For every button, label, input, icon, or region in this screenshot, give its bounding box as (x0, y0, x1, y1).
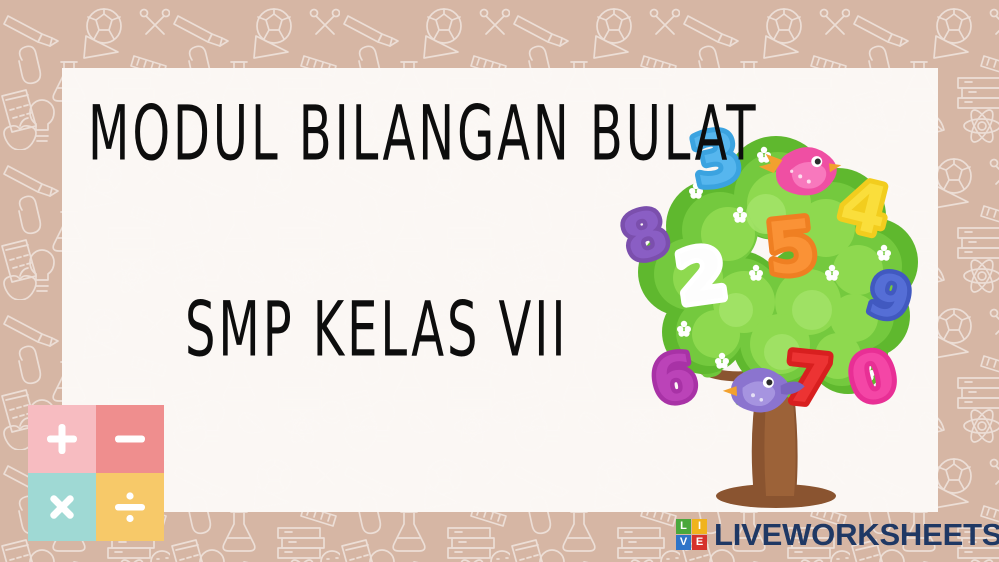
svg-text:5: 5 (762, 203, 821, 292)
svg-text:7: 7 (781, 339, 835, 420)
plus-icon (44, 421, 80, 457)
minus-tile (96, 405, 164, 473)
plus-tile (28, 405, 96, 473)
minus-icon (112, 421, 148, 457)
tree-number-7: 7 7 (781, 339, 835, 420)
liveworksheets-wordmark: LIVEWORKSHEETS (714, 519, 999, 550)
page-subtitle: SMP KELAS VII (185, 292, 585, 354)
times-icon (44, 489, 80, 525)
tree-number-8: 8 8 (616, 194, 677, 277)
divide-tile (96, 473, 164, 541)
tree-number-5: 5 5 (762, 203, 821, 292)
liveworksheets-logo-tiles: L I V E (676, 519, 707, 550)
page-title: MODUL BILANGAN BULAT (88, 96, 668, 158)
page-title-text: MODUL BILANGAN BULAT (88, 96, 587, 172)
logo-tile-l: L (676, 519, 691, 534)
logo-tile-i: I (692, 519, 707, 534)
math-operator-tiles (28, 405, 164, 541)
page-subtitle-text: SMP KELAS VII (185, 292, 529, 368)
divide-icon (112, 489, 148, 525)
svg-text:8: 8 (616, 194, 677, 277)
logo-tile-e: E (692, 535, 707, 550)
times-tile (28, 473, 96, 541)
logo-tile-v: V (676, 535, 691, 550)
liveworksheets-logo[interactable]: L I V E LIVEWORKSHEETS (676, 512, 999, 556)
worksheet-cover: 8 8 3 3 2 2 5 5 (0, 0, 999, 562)
